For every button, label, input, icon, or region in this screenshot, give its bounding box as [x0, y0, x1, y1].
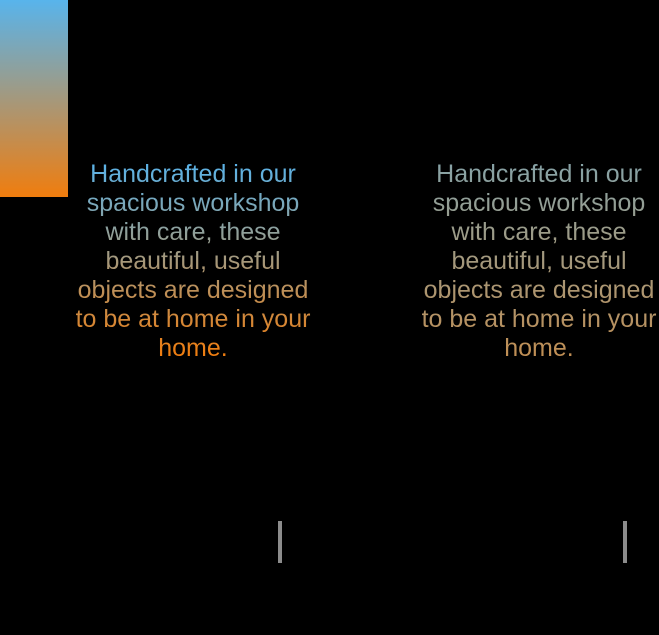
footer-rule-right — [623, 521, 627, 563]
gradient-swatch-left — [0, 0, 68, 197]
gradient-text-left: Handcrafted in our spacious workshop wit… — [71, 160, 315, 363]
footer-band — [0, 520, 659, 635]
footer-rule-left — [278, 521, 282, 563]
gradient-text-right: Handcrafted in our spacious workshop wit… — [417, 160, 659, 363]
demo-stage: Handcrafted in our spacious workshop wit… — [0, 0, 659, 635]
